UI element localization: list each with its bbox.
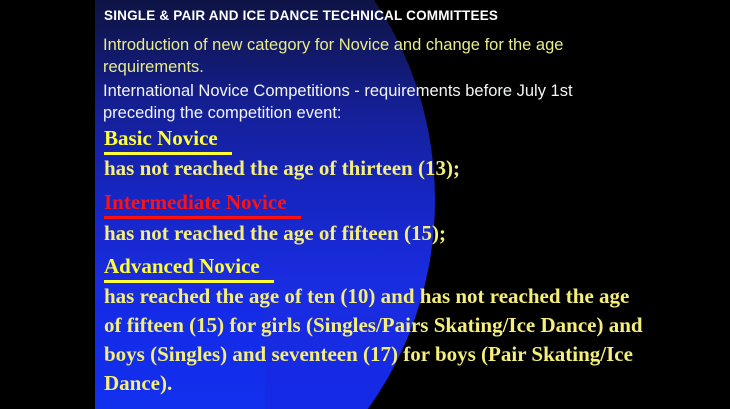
committee-title: SINGLE & PAIR AND ICE DANCE TECHNICAL CO…	[104, 8, 498, 23]
presentation-slide: SINGLE & PAIR AND ICE DANCE TECHNICAL CO…	[0, 0, 730, 409]
category-body-advanced-novice: has reached the age of ten (10) and has …	[104, 282, 644, 398]
category-heading-basic-novice-label: Basic Novice	[104, 126, 232, 155]
slide-content: SINGLE & PAIR AND ICE DANCE TECHNICAL CO…	[0, 0, 730, 409]
category-heading-advanced-novice-label: Advanced Novice	[104, 254, 274, 283]
category-heading-advanced-novice: Advanced Novice	[104, 254, 274, 285]
international-requirements-paragraph: International Novice Competitions - requ…	[103, 80, 623, 124]
category-heading-basic-novice: Basic Novice	[104, 126, 232, 157]
category-body-intermediate-novice: has not reached the age of fifteen (15);	[104, 219, 664, 248]
category-heading-intermediate-novice: Intermediate Novice	[104, 190, 301, 221]
category-heading-intermediate-novice-label: Intermediate Novice	[104, 190, 301, 219]
intro-paragraph: Introduction of new category for Novice …	[103, 34, 633, 78]
category-body-basic-novice: has not reached the age of thirteen (13)…	[104, 154, 664, 183]
